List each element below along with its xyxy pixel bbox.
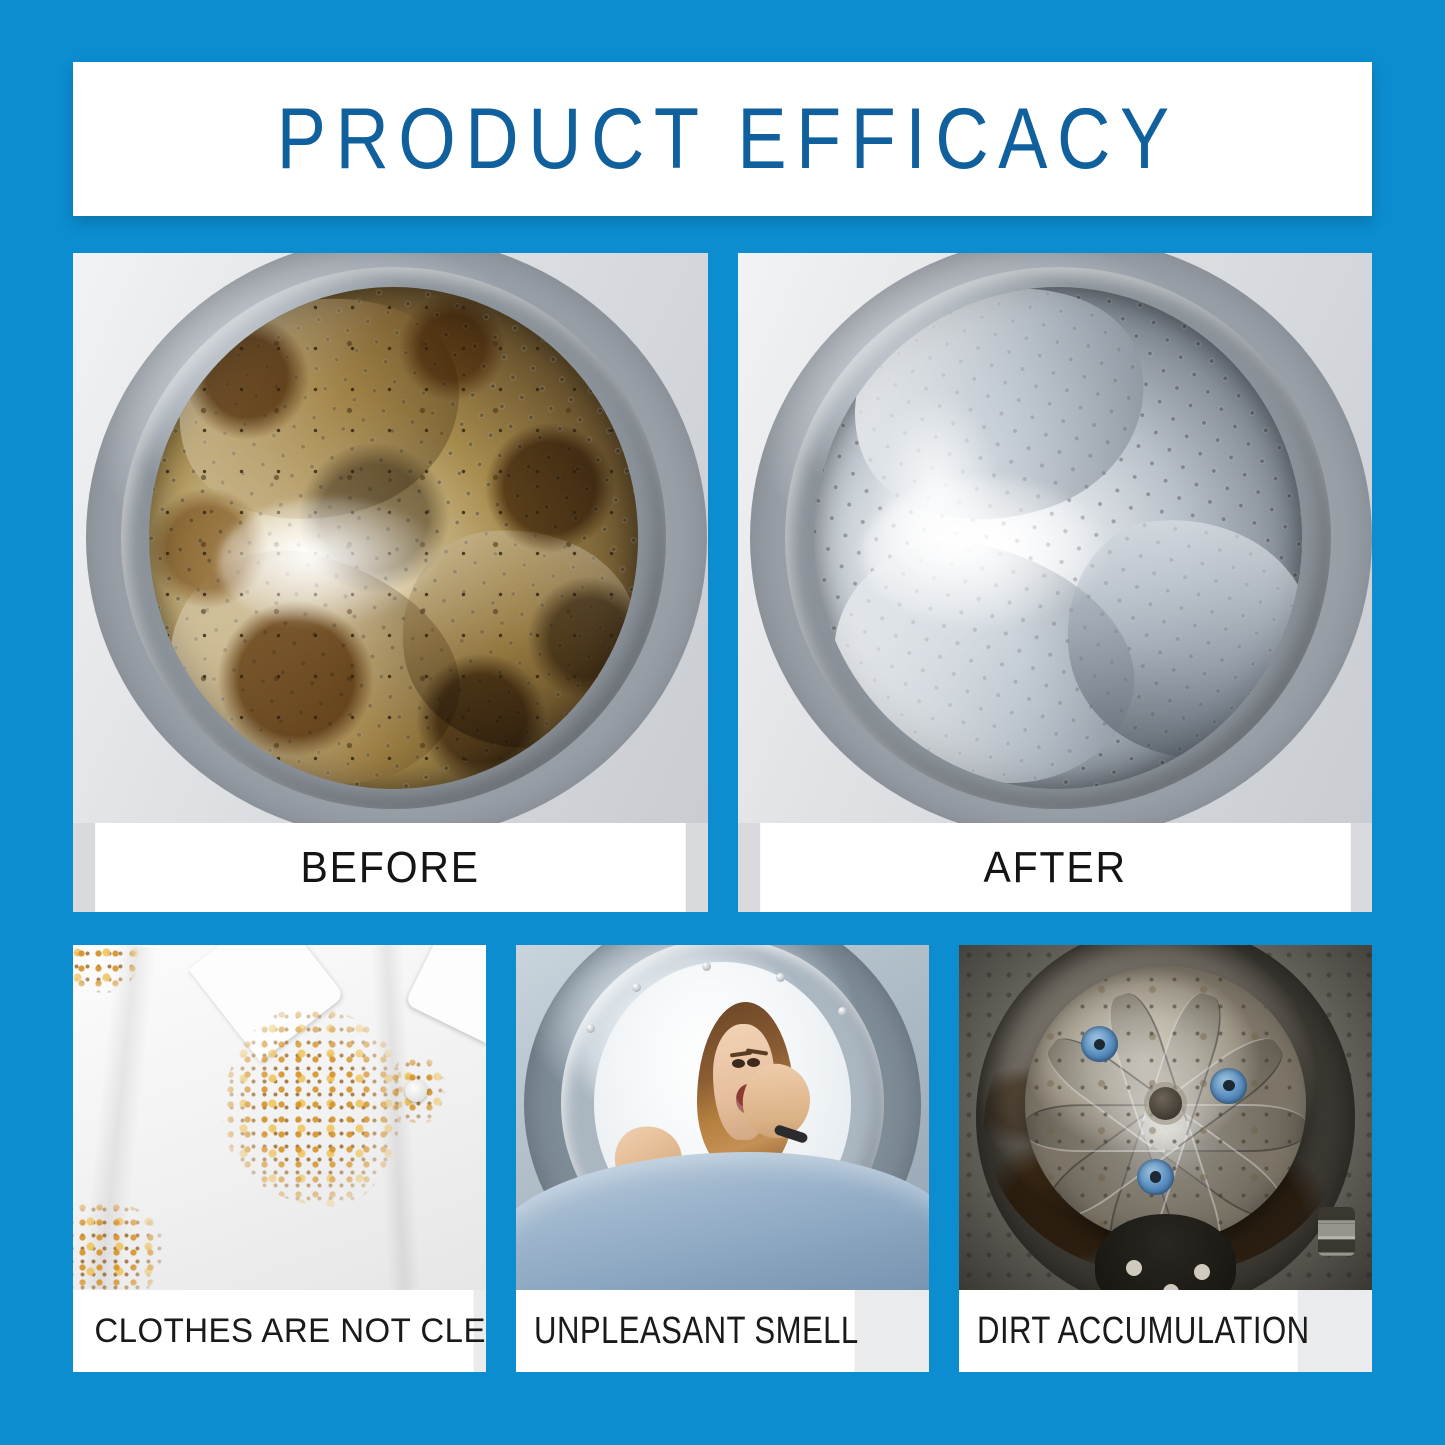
problem-caption-dirt: DIRT ACCUMULATION: [959, 1290, 1298, 1372]
eye-right: [747, 1058, 760, 1067]
problem-card-smell: UNPLEASANT SMELL: [516, 945, 929, 1372]
problem-caption-smell: UNPLEASANT SMELL: [516, 1290, 855, 1372]
clean-drum-illustration: [738, 253, 1373, 823]
eye-left: [732, 1059, 745, 1068]
before-after-row: BEFORE AFTER: [73, 253, 1372, 912]
light-glare: [218, 498, 443, 628]
blue-screw-cap: [1081, 1026, 1118, 1062]
debris-spot: [1126, 1260, 1142, 1276]
product-efficacy-poster: PRODUCT EFFICACY: [0, 0, 1445, 1445]
stained-shirt-illustration: [73, 945, 486, 1290]
page-title: PRODUCT EFFICACY: [267, 96, 1178, 182]
before-caption: BEFORE: [95, 823, 685, 912]
stain-patch: [222, 1007, 404, 1207]
drum-opening: [149, 287, 638, 789]
drum-rivet: [776, 973, 785, 982]
problem-row: CLOTHES ARE NOT CLEAN: [73, 945, 1372, 1372]
light-glare-secondary: [872, 388, 999, 589]
problem-caption-clothes: CLOTHES ARE NOT CLEAN: [73, 1290, 474, 1372]
dirt-accumulation-photo: [959, 945, 1372, 1290]
drum-rivet: [632, 983, 641, 992]
smell-illustration: [516, 945, 929, 1290]
pulsator-disc: [1025, 966, 1306, 1242]
stain-patch: [73, 1200, 164, 1290]
after-photo: [738, 253, 1373, 823]
shirt-collar-right: [405, 945, 486, 1043]
before-photo: [73, 253, 708, 823]
dirty-pulsator-illustration: [959, 945, 1372, 1290]
unpleasant-smell-photo: [516, 945, 929, 1290]
shirt-button: [405, 1080, 427, 1102]
stained-shirt-photo: [73, 945, 486, 1290]
after-card: AFTER: [738, 253, 1373, 912]
debris-spot: [1194, 1264, 1210, 1280]
tub-vent-grille: [1318, 1207, 1355, 1255]
dirty-drum-illustration: [73, 253, 708, 823]
header-card: PRODUCT EFFICACY: [73, 62, 1372, 216]
problem-card-clothes: CLOTHES ARE NOT CLEAN: [73, 945, 486, 1372]
drum-opening: [814, 287, 1303, 789]
problem-card-dirt: DIRT ACCUMULATION: [959, 945, 1372, 1372]
after-caption: AFTER: [760, 823, 1350, 912]
blue-screw-cap: [1137, 1159, 1174, 1195]
before-card: BEFORE: [73, 253, 708, 912]
blue-screw-cap: [1210, 1068, 1247, 1104]
